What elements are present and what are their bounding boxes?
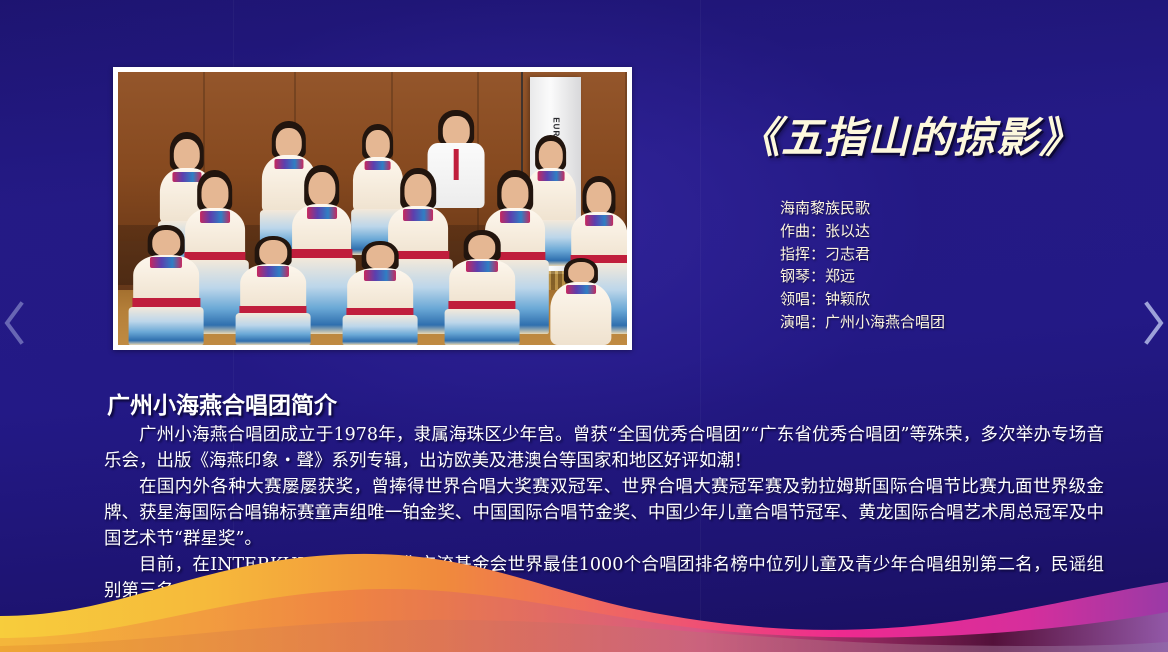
song-title: 《五指山的掠影》	[700, 116, 1120, 160]
intro-paragraph: 广州小海燕合唱团成立于1978年，隶属海珠区少年宫。曾获“全国优秀合唱团”“广东…	[104, 422, 1104, 474]
choir-photo: EUROPEAN GAMES G	[118, 72, 627, 345]
intro-paragraph: 目前，在INTERKULTUR国际文化交流基金会世界最佳1000个合唱团排名榜中…	[104, 552, 1104, 604]
chevron-left-icon	[1, 300, 27, 346]
choir-member	[128, 225, 204, 345]
credit-line: 指挥：刁志君	[780, 243, 945, 266]
intro-heading: 广州小海燕合唱团简介	[107, 386, 337, 420]
presentation-slide: EUROPEAN GAMES G	[0, 0, 1168, 652]
chevron-right-icon	[1140, 300, 1166, 346]
intro-paragraph: 在国内外各种大赛屡屡获奖，曾捧得世界合唱大奖赛双冠军、世界合唱大赛冠军赛及勃拉姆…	[104, 474, 1104, 552]
intro-body: 广州小海燕合唱团成立于1978年，隶属海珠区少年宫。曾获“全国优秀合唱团”“广东…	[104, 422, 1104, 604]
choir-member	[235, 236, 311, 345]
song-credits: 海南黎族民歌 作曲：张以达 指挥：刁志君 钢琴：郑远 领唱：钟颖欣 演唱：广州小…	[780, 197, 945, 334]
credit-line: 海南黎族民歌	[780, 197, 945, 220]
credit-line: 演唱：广州小海燕合唱团	[780, 311, 945, 334]
choir-member	[444, 230, 520, 345]
choir-photo-frame: EUROPEAN GAMES G	[113, 67, 632, 350]
credit-line: 作曲：张以达	[780, 220, 945, 243]
credit-line: 钢琴：郑远	[780, 265, 945, 288]
choir-member	[546, 258, 617, 345]
choir-member	[342, 241, 418, 345]
credit-line: 领唱：钟颖欣	[780, 288, 945, 311]
